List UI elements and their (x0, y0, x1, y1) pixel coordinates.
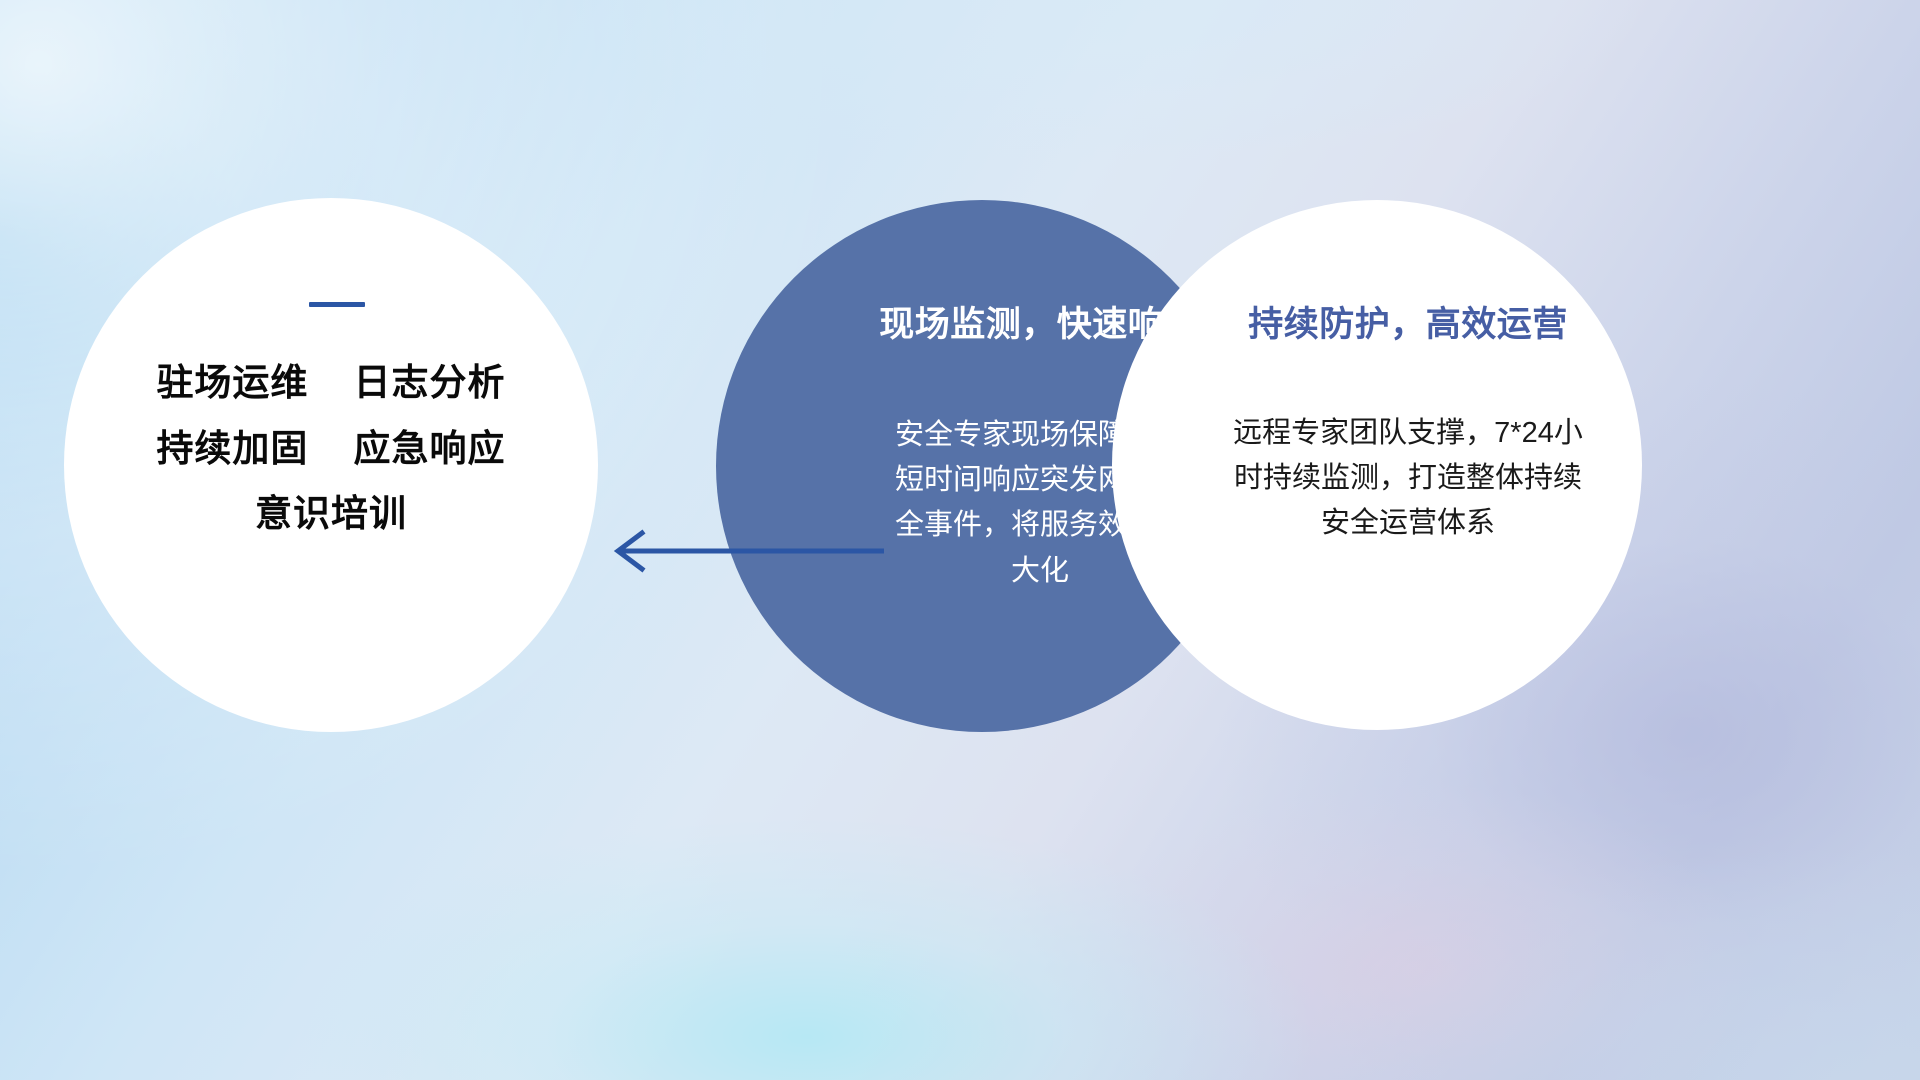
slide-canvas: 驻场运维 日志分析 持续加固 应急响应 意识培训 现场监测，快速响应 安全专家现… (0, 0, 1920, 1080)
capability-line-2: 持续加固 应急响应 (156, 427, 505, 471)
remote-title: 持续防护，高效运营 (1248, 296, 1568, 347)
capability-list: 驻场运维 日志分析 持续加固 应急响应 意识培训 (156, 361, 505, 536)
remote-operation-circle[interactable]: 持续防护，高效运营 远程专家团队支撑，7*24小时持续监测，打造整体持续安全运营… (1112, 200, 1642, 730)
right-circle-content: 持续防护，高效运营 远程专家团队支撑，7*24小时持续监测，打造整体持续安全运营… (1112, 200, 1642, 730)
flow-arrow-left-icon (596, 516, 886, 586)
left-circle-content: 驻场运维 日志分析 持续加固 应急响应 意识培训 (64, 198, 598, 732)
remote-body: 远程专家团队支撑，7*24小时持续监测，打造整体持续安全运营体系 (1222, 411, 1594, 547)
divider-dash (309, 302, 365, 307)
capability-line-3: 意识培训 (255, 492, 407, 536)
left-capability-circle[interactable]: 驻场运维 日志分析 持续加固 应急响应 意识培训 (64, 198, 598, 732)
capability-line-1: 驻场运维 日志分析 (156, 361, 505, 405)
